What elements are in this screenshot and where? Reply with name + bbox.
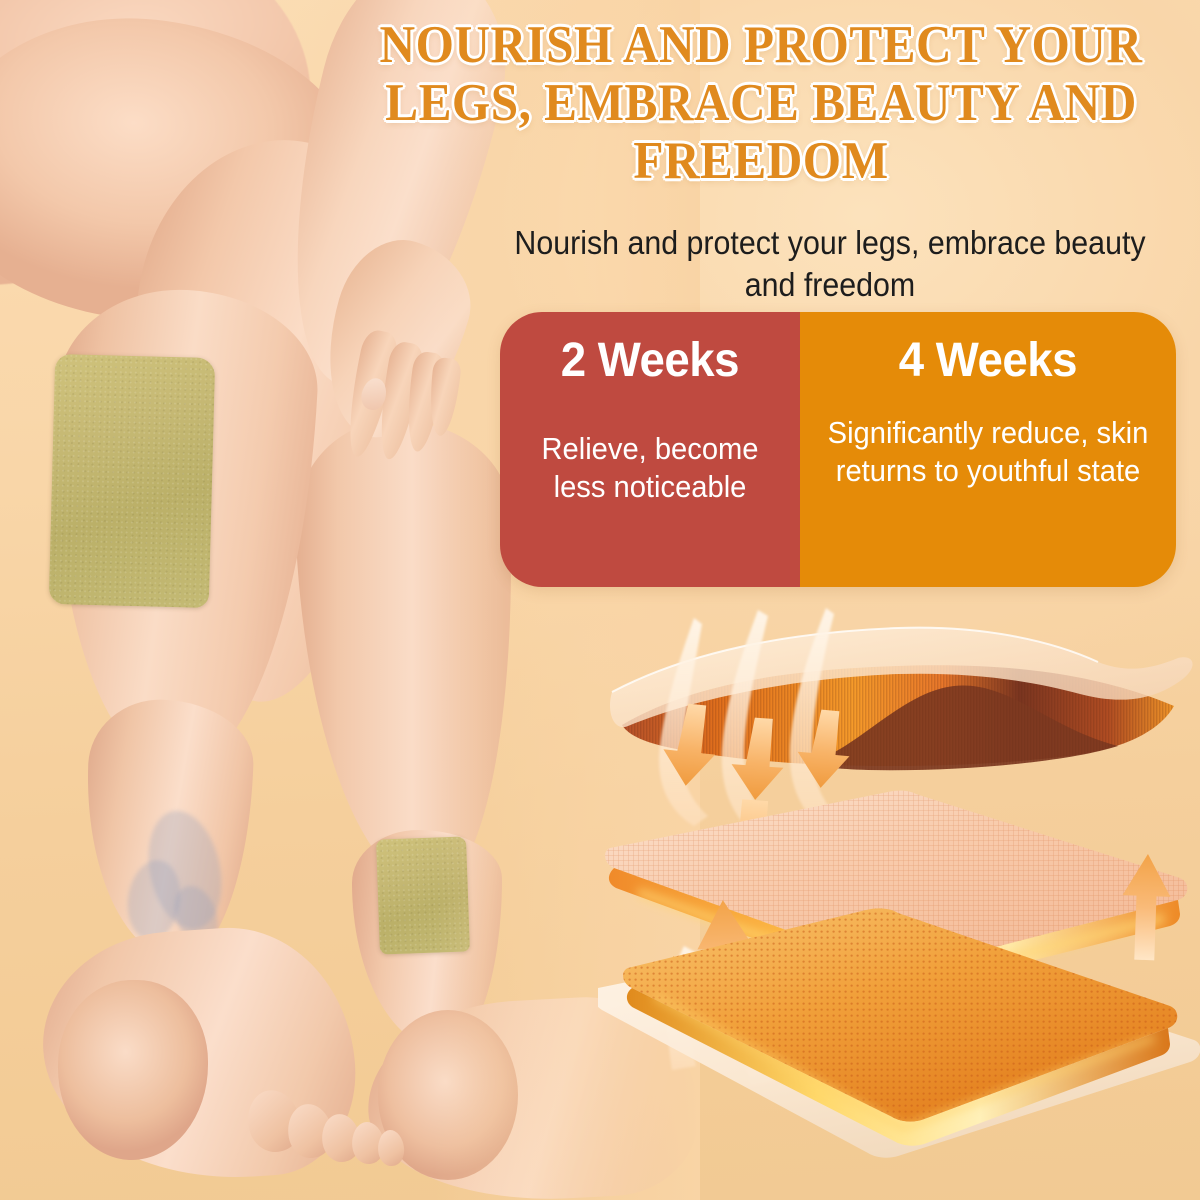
page-title: NOURISH AND PROTECT YOUR LEGS, EMBRACE B… — [360, 16, 1162, 190]
ankle-patch — [376, 836, 470, 954]
product-banner: NOURISH AND PROTECT YOUR LEGS, EMBRACE B… — [0, 0, 1200, 1200]
knee-patch — [49, 354, 215, 608]
week-panel-4-weeks: 4 Weeks Significantly reduce, skin retur… — [800, 312, 1176, 587]
timeline-results-card: 2 Weeks Relieve, become less noticeable … — [500, 312, 1176, 587]
week-panel-description: Significantly reduce, skin returns to yo… — [824, 414, 1151, 490]
week-panel-description: Relieve, become less noticeable — [522, 430, 778, 506]
week-panel-title: 2 Weeks — [561, 334, 739, 388]
back-calf — [292, 416, 523, 893]
week-panel-title: 4 Weeks — [899, 334, 1077, 388]
patch-layers-diagram — [598, 600, 1200, 1200]
week-panel-2-weeks: 2 Weeks Relieve, become less noticeable — [500, 312, 800, 587]
page-subtitle: Nourish and protect your legs, embrace b… — [499, 222, 1161, 306]
